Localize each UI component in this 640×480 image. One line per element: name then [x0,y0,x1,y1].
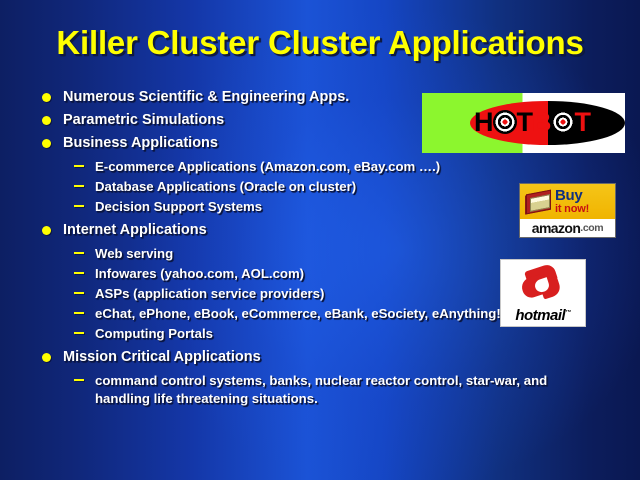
amazon-brand-label: amazon [532,221,581,235]
list-item: Mission Critical Applications [34,348,630,367]
list-item-label: E-commerce Applications (Amazon.com, eBa… [95,158,440,176]
amazon-buy-banner: Buy it now! [520,184,615,219]
bullet-dash-icon [74,185,84,187]
amazon-it-now-label: it now! [555,204,589,215]
hotbot-letter-h: H [474,109,493,136]
page-title: Killer Cluster Cluster Applications [0,24,640,62]
bullet-dot-icon [42,353,51,362]
list-item-label: Parametric Simulations [63,111,224,130]
list-item: E-commerce Applications (Amazon.com, eBa… [34,158,630,176]
bullet-dash-icon [74,312,84,314]
amazon-buy-text-wrap: Buy it now! [555,188,589,215]
amazon-buy-label: Buy [555,188,589,203]
bullet-dash-icon [74,205,84,207]
hotbot-wordmark: H T B T [474,105,624,139]
hotbot-target-ring-icon [493,110,517,134]
bullet-dash-icon [74,332,84,334]
list-item-label: Computing Portals [95,325,213,343]
list-item-label: Mission Critical Applications [63,348,261,367]
bullet-dot-icon [42,226,51,235]
list-item-label: Numerous Scientific & Engineering Apps. [63,88,349,107]
hotbot-letter-t2: T [575,109,591,136]
bullet-dot-icon [42,116,51,125]
slide-canvas: Killer Cluster Cluster Applications Nume… [0,0,640,480]
hotmail-trademark-symbol: ™ [565,310,571,316]
list-item-label: Internet Applications [63,221,207,240]
list-item-label: Database Applications (Oracle on cluster… [95,178,356,196]
hotmail-wordmark-wrap: hotmail™ [501,307,585,324]
hotmail-wordmark: hotmail [515,307,565,324]
amazon-brand-strip: amazon .com [520,219,615,237]
book-icon [524,189,554,215]
hotbot-logo: H T B T [422,93,625,153]
list-item: command control systems, banks, nuclear … [34,372,630,408]
amazon-tld-label: .com [580,223,603,234]
bullet-dot-icon [42,139,51,148]
list-item-label: Decision Support Systems [95,198,262,216]
hotmail-mark-icon [520,265,566,305]
hotbot-letter-t1: T [517,109,533,136]
amazon-buy-it-now-logo[interactable]: Buy it now! amazon .com [519,183,616,238]
list-item-label: Web serving [95,245,173,263]
hotbot-target-ring-icon [551,110,575,134]
bullet-dash-icon [74,292,84,294]
bullet-dash-icon [74,252,84,254]
list-item-label: command control systems, banks, nuclear … [95,372,567,408]
list-item-label: ASPs (application service providers) [95,285,324,303]
hotmail-logo: hotmail™ [500,259,586,327]
list-item-label: Infowares (yahoo.com, AOL.com) [95,265,304,283]
bullet-dot-icon [42,93,51,102]
hotbot-letter-b: B [532,109,551,136]
bullet-dash-icon [74,272,84,274]
list-item: Computing Portals [34,325,630,343]
list-item-label: eChat, ePhone, eBook, eCommerce, eBank, … [95,305,501,323]
bullet-dash-icon [74,379,84,381]
bullet-dash-icon [74,165,84,167]
list-item-label: Business Applications [63,134,218,153]
